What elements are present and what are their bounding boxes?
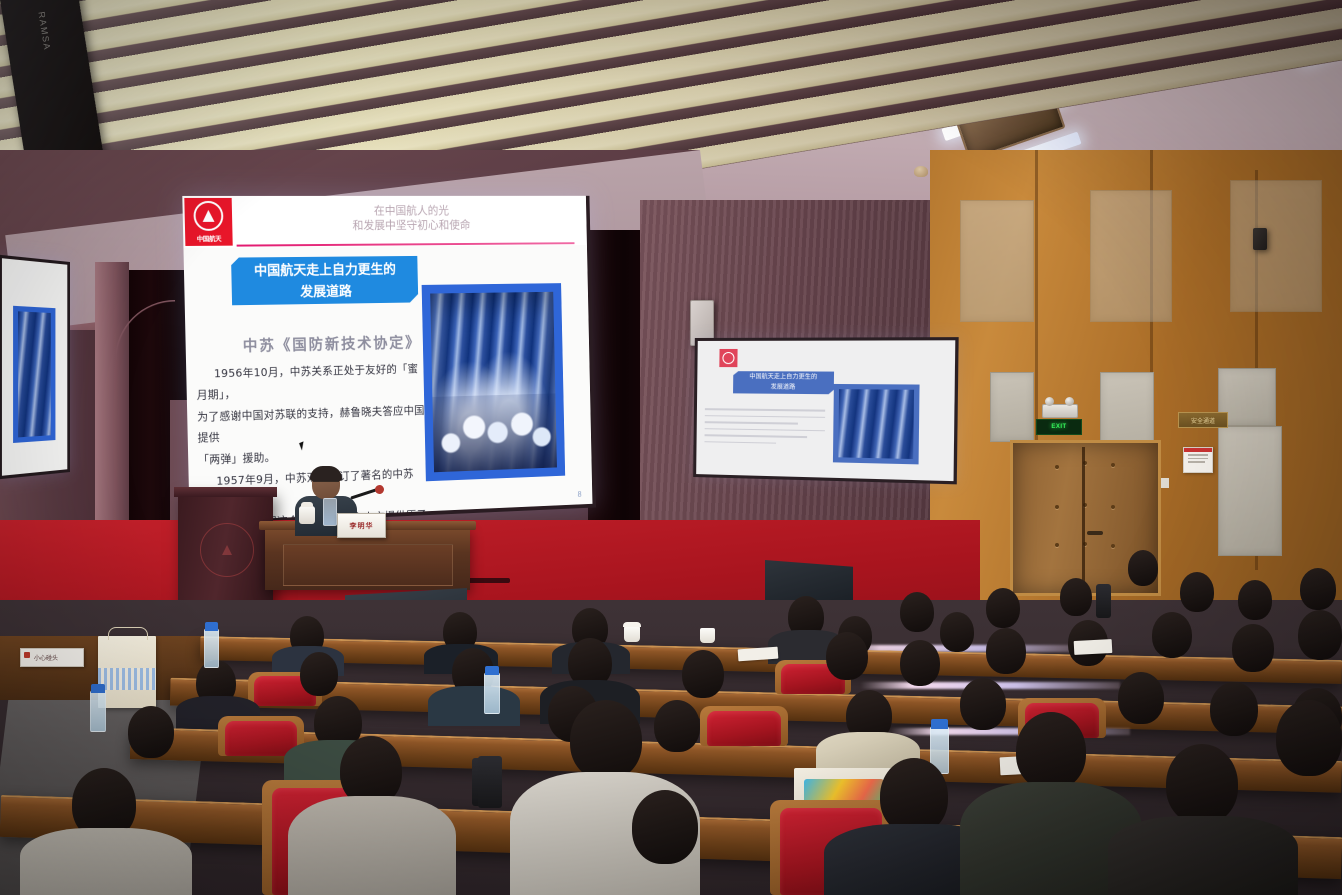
side-screen-left <box>0 255 70 480</box>
lecturer-nameplate: 李明华 <box>337 513 386 538</box>
audience-body-d7 <box>1108 816 1298 895</box>
audience-head-b2 <box>300 652 338 696</box>
audience-body-d2 <box>288 796 456 895</box>
slide-title-line1: 中国航天走上自力更生的 <box>231 259 418 283</box>
bag-handles <box>108 627 147 640</box>
university-crest-icon: ▲ <box>200 523 254 577</box>
audience-head-c4 <box>654 700 700 752</box>
main-projection-screen: 中国航天 在中国航人的光 和发展中坚守初心和使命 中国航天走上自力更生的 发展道… <box>182 196 596 526</box>
exit-sign-label: EXIT <box>1051 424 1066 430</box>
podium-top <box>174 487 277 497</box>
notice-line-1 <box>1188 454 1208 456</box>
audience-head-b5 <box>682 650 724 698</box>
slide-title-box: 中国航天走上自力更生的 发展道路 <box>231 256 418 305</box>
ramsa-brand-label: RAMSA <box>36 11 52 52</box>
audience-head-b6 <box>826 632 868 680</box>
audience-head-d8 <box>1276 700 1342 776</box>
audience-head-a11 <box>1128 550 1158 586</box>
audience-head-b12 <box>1298 610 1342 660</box>
slide-subtitle: 中苏《国防新技术协定》 <box>229 331 434 356</box>
audience-head-b7 <box>900 640 940 686</box>
paper-shopping-bag <box>98 636 156 708</box>
casc-logo-label: 中国航天 <box>197 233 222 243</box>
notebook-1 <box>1074 639 1113 655</box>
water-bottle-1 <box>204 628 219 668</box>
slide-body-line-0: 1956年10月，中苏关系正处于友好的「蜜月期」， <box>196 358 425 405</box>
audience-head-c7 <box>1118 672 1164 724</box>
door-handle[interactable] <box>1087 531 1103 535</box>
casc-logo-icon: 中国航天 <box>184 198 232 246</box>
slide-header: 中国航天 在中国航人的光 和发展中坚守初心和使命 <box>182 196 587 248</box>
lecturer-glasses-icon <box>313 481 339 488</box>
slide-banner-line2: 和发展中坚守初心和使命 <box>240 218 576 234</box>
caution-sign-label: 小心碰头 <box>34 653 58 662</box>
side-screen-photo <box>833 384 920 464</box>
side-screen-title-line2: 发展道路 <box>733 382 834 393</box>
slide-body-line-1: 为了感谢中国对苏联的支持，赫鲁晓夫答应中国提供 <box>197 400 426 449</box>
door-center-seam <box>1082 447 1085 589</box>
thermos-1 <box>1096 584 1111 618</box>
slide-photo <box>422 283 566 481</box>
audience-head-d5 <box>880 758 948 834</box>
audience-head-b10 <box>1152 612 1192 658</box>
side-screen-logo-icon <box>719 349 737 367</box>
audience-head-c6 <box>960 678 1006 730</box>
acoustic-panel-4 <box>1218 426 1282 556</box>
safety-plaque-label: 安全通道 <box>1191 416 1215 425</box>
slide-photo-crowd <box>432 393 557 472</box>
slide-page-number: 8 <box>578 490 582 499</box>
proscenium-column <box>95 262 129 562</box>
water-glass <box>323 498 337 526</box>
wall-notice <box>1183 447 1213 473</box>
acoustic-panel-5 <box>960 200 1034 322</box>
audience-head-a8 <box>1180 572 1214 612</box>
audience-head-a7 <box>1060 578 1092 616</box>
slide-title-line2: 发展道路 <box>232 280 419 304</box>
slide-banner: 在中国航人的光 和发展中坚守初心和使命 <box>240 203 576 233</box>
audience-head-c8 <box>1210 682 1258 736</box>
acoustic-panel-6 <box>1090 190 1172 322</box>
slide-header-rule <box>237 242 575 246</box>
notice-accent-bar <box>1184 448 1212 452</box>
audience-head-c1 <box>128 706 174 758</box>
audience-head-d4 <box>632 790 698 864</box>
water-bottle-4 <box>90 690 106 732</box>
stage-curtain-right <box>588 230 648 530</box>
audience-head-a6 <box>986 588 1020 628</box>
caution-sign: 小心碰头 <box>20 648 84 667</box>
notice-line-2 <box>1188 458 1208 460</box>
audience-head-a5 <box>900 592 934 632</box>
audience-body-b3 <box>428 686 520 726</box>
lecturer-hair <box>310 466 342 481</box>
audience-head-b8 <box>986 628 1026 674</box>
audience-head-b11 <box>1232 624 1274 672</box>
slide-banner-line1: 在中国航人的光 <box>240 203 576 218</box>
side-screen-title: 中国航天走上自力更生的 发展道路 <box>733 371 834 394</box>
audience-head-d3 <box>570 700 642 780</box>
seat-c1 <box>225 721 297 756</box>
smoke-detector-icon-2 <box>914 166 928 177</box>
side-screen-right: 中国航天走上自力更生的 发展道路 <box>693 337 959 484</box>
teacup-2 <box>700 628 715 643</box>
lecture-hall-photo: RAMSA EXIT 安全通道 <box>0 0 1342 895</box>
exit-sign: EXIT <box>1036 419 1082 435</box>
audience-head-a13 <box>940 612 974 652</box>
acoustic-panel-1 <box>990 372 1034 442</box>
notice-line-3 <box>1188 461 1205 463</box>
water-bottle-2 <box>484 672 500 714</box>
audience-head-d6 <box>1016 712 1086 790</box>
lecturer: 李明华 <box>295 468 357 534</box>
caution-sign-icon <box>24 652 30 658</box>
tea-mug <box>299 506 315 524</box>
acoustic-panel-7 <box>1230 180 1322 312</box>
audience-head-d7 <box>1166 744 1238 824</box>
light-switch[interactable] <box>1161 478 1169 488</box>
emergency-light <box>1042 404 1078 418</box>
teacup-1 <box>624 626 640 642</box>
audience-head-a10 <box>1300 568 1336 610</box>
bag-pattern <box>98 668 156 690</box>
thermos-3 <box>478 756 502 808</box>
side-screen-left-photo <box>13 306 55 443</box>
wall-speaker-far-right <box>1253 228 1267 250</box>
seat-c2 <box>707 711 781 746</box>
side-screen-title-line1: 中国航天走上自力更生的 <box>733 372 834 383</box>
audience-head-a9 <box>1238 580 1272 620</box>
safety-plaque: 安全通道 <box>1178 412 1228 428</box>
side-screen-body <box>704 403 825 450</box>
head-table-panel <box>283 544 453 586</box>
microphone-head <box>375 485 384 494</box>
audience-body-d1 <box>20 828 192 895</box>
